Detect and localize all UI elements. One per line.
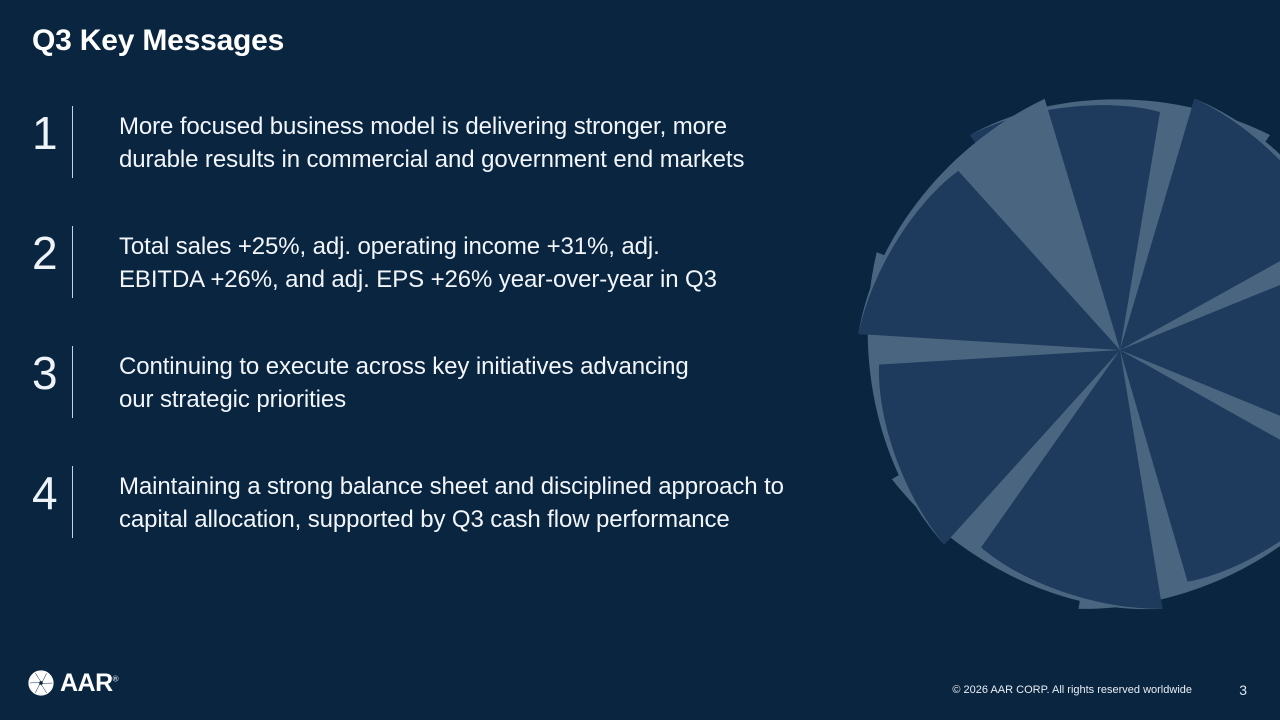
presentation-slide: Q3 Key Messages 1 More focused business … bbox=[0, 0, 1280, 720]
item-text: Continuing to execute across key initiat… bbox=[73, 340, 1022, 416]
item-text-line: EBITDA +26%, and adj. EPS +26% year-over… bbox=[119, 263, 1022, 296]
page-number: 3 bbox=[1239, 682, 1247, 698]
item-text-line: Total sales +25%, adj. operating income … bbox=[119, 230, 1022, 263]
item-text: Total sales +25%, adj. operating income … bbox=[73, 220, 1022, 296]
item-text-line: durable results in commercial and govern… bbox=[119, 143, 1022, 176]
slide-title: Q3 Key Messages bbox=[32, 24, 284, 58]
item-text: More focused business model is deliverin… bbox=[73, 100, 1022, 176]
item-text-line: Continuing to execute across key initiat… bbox=[119, 350, 1022, 383]
item-text-line: More focused business model is deliverin… bbox=[119, 110, 1022, 143]
item-text: Maintaining a strong balance sheet and d… bbox=[73, 460, 1022, 536]
item-text-line: our strategic priorities bbox=[119, 383, 1022, 416]
item-number: 2 bbox=[32, 220, 72, 276]
item-text-line: capital allocation, supported by Q3 cash… bbox=[119, 503, 1022, 536]
aar-wordmark: AAR® bbox=[60, 671, 118, 696]
key-messages-list: 1 More focused business model is deliver… bbox=[32, 100, 1022, 580]
aar-wordmark-text: AAR bbox=[60, 669, 113, 697]
list-item: 4 Maintaining a strong balance sheet and… bbox=[32, 460, 1022, 580]
item-number: 4 bbox=[32, 460, 72, 516]
item-number: 3 bbox=[32, 340, 72, 396]
item-text-line: Maintaining a strong balance sheet and d… bbox=[119, 470, 1022, 503]
aar-pinwheel-icon bbox=[28, 670, 54, 696]
copyright-notice: © 2026 AAR CORP. All rights reserved wor… bbox=[952, 684, 1192, 696]
list-item: 1 More focused business model is deliver… bbox=[32, 100, 1022, 220]
list-item: 3 Continuing to execute across key initi… bbox=[32, 340, 1022, 460]
item-number: 1 bbox=[32, 100, 72, 156]
list-item: 2 Total sales +25%, adj. operating incom… bbox=[32, 220, 1022, 340]
registered-trademark-icon: ® bbox=[113, 674, 118, 683]
aar-logo: AAR® bbox=[28, 668, 118, 698]
